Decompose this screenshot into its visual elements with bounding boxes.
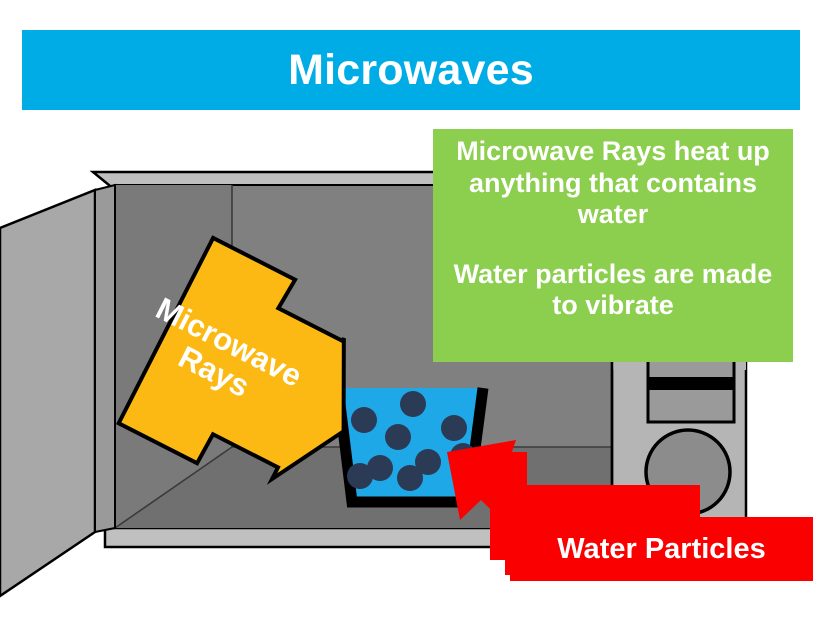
water-particle xyxy=(385,424,411,450)
slide-canvas: Microwaves Microwave Rays heat up anythi… xyxy=(0,0,828,621)
water-particle xyxy=(351,407,377,433)
info-paragraph-1: Microwave Rays heat up anything that con… xyxy=(443,136,783,231)
control-panel-display[interactable] xyxy=(648,360,734,422)
water-particle xyxy=(347,463,373,489)
info-box: Microwave Rays heat up anything that con… xyxy=(433,129,793,362)
title-banner: Microwaves xyxy=(22,30,800,110)
water-particles-label-text: Water Particles xyxy=(557,533,765,566)
water-particles-label: Water Particles xyxy=(510,517,813,581)
oven-door[interactable] xyxy=(0,190,95,596)
control-panel-display-bar xyxy=(648,377,734,390)
water-particle xyxy=(400,391,426,417)
oven-door-hinge-edge xyxy=(95,185,115,532)
water-particle xyxy=(397,465,423,491)
water-particle xyxy=(441,415,467,441)
page-title: Microwaves xyxy=(288,49,534,92)
info-paragraph-2: Water particles are made to vibrate xyxy=(443,259,783,322)
